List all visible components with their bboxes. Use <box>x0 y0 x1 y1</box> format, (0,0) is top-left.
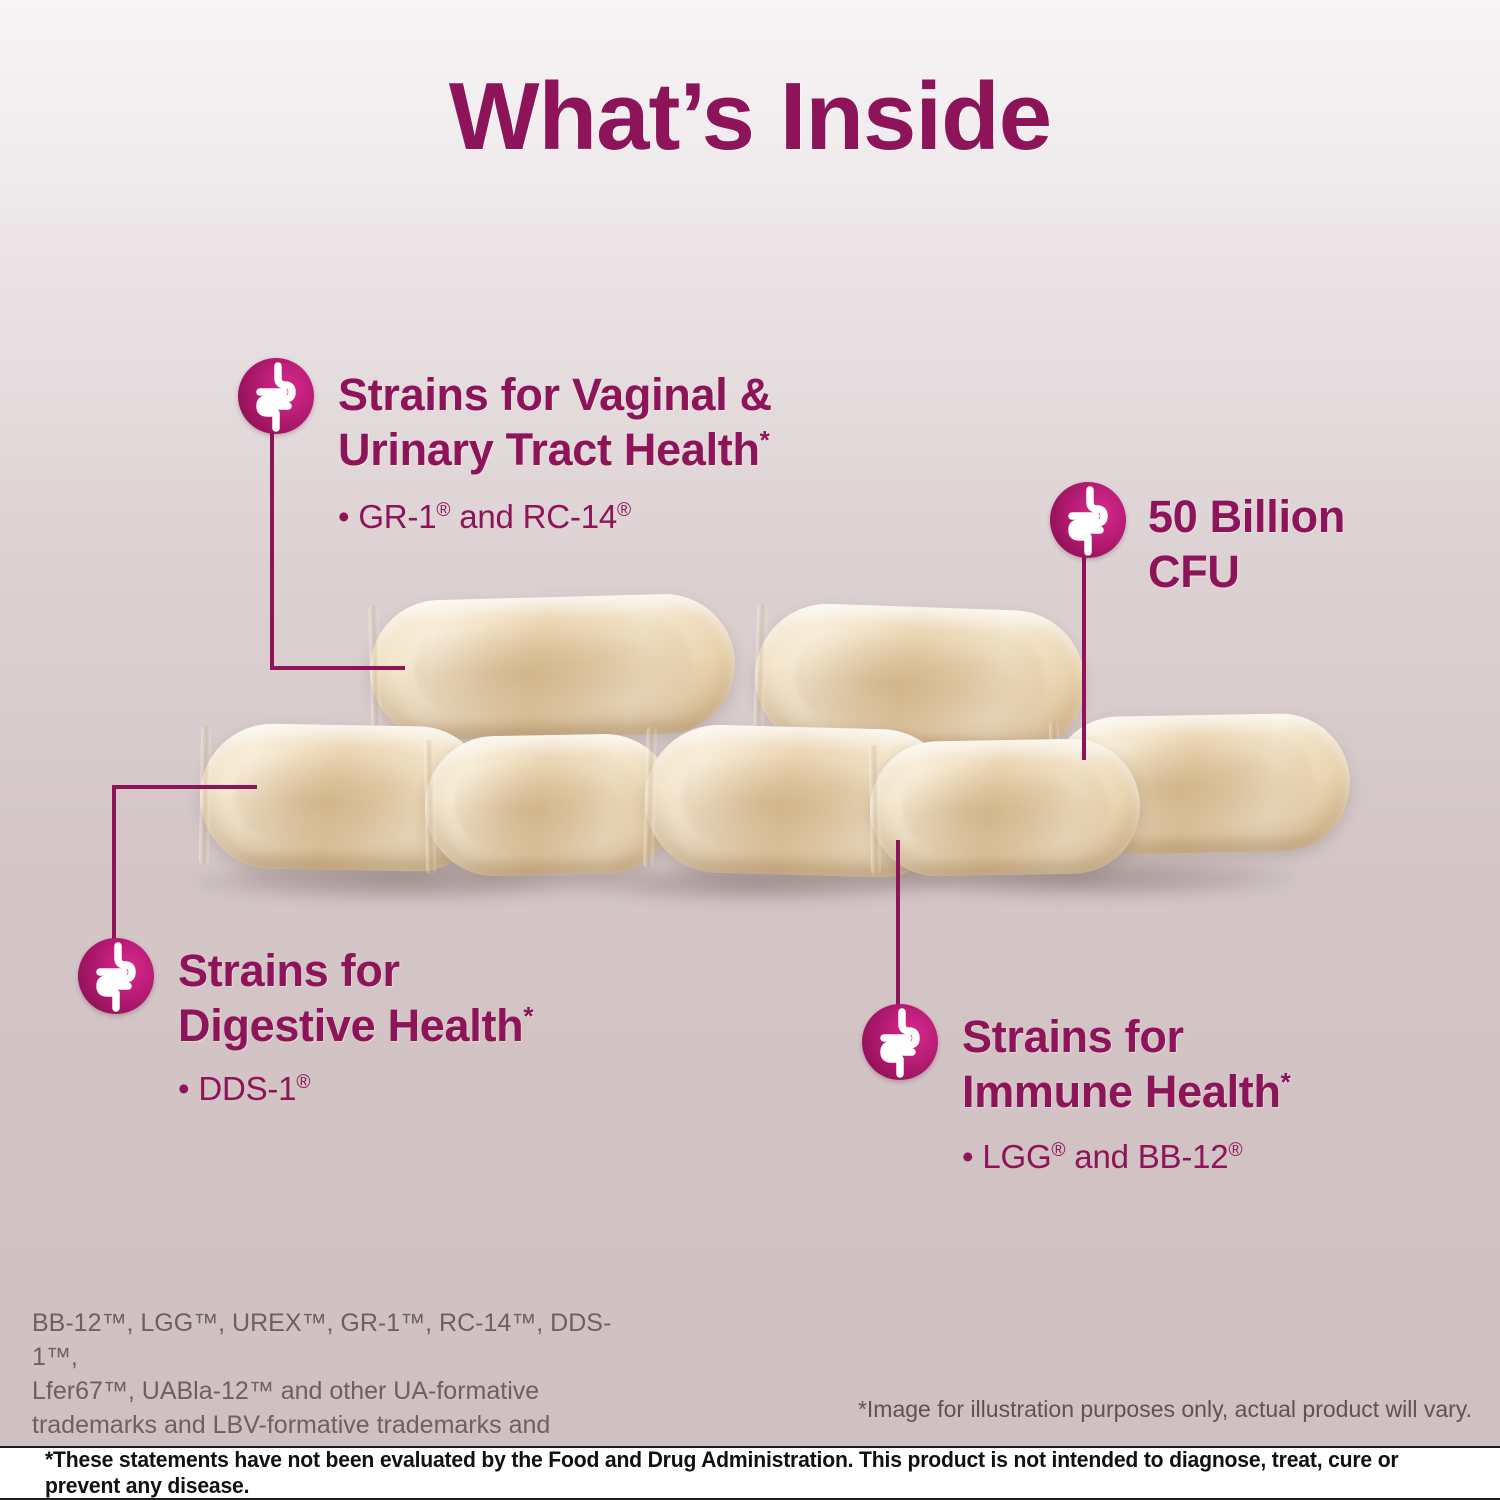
capsule <box>869 738 1141 878</box>
callout-title-vaginal-urinary: Strains for Vaginal &Urinary Tract Healt… <box>338 368 958 478</box>
fda-disclaimer-text: *These statements have not been evaluate… <box>45 1447 1455 1499</box>
leader-line-digestive <box>112 785 116 960</box>
gut-icon <box>78 938 154 1014</box>
leader-line-immune <box>896 840 900 1020</box>
illustration-disclaimer: *Image for illustration purposes only, a… <box>858 1396 1472 1423</box>
whats-inside-infographic: What’s Inside <box>0 0 1500 1500</box>
capsule <box>424 733 676 877</box>
leader-line-vaginal-urinary <box>270 425 274 670</box>
callout-title-cfu: 50 BillionCFU <box>1148 490 1488 600</box>
leader-line-vaginal-urinary-arm <box>270 666 405 670</box>
callout-title-immune: Strains forImmune Health* <box>962 1010 1482 1120</box>
page-title: What’s Inside <box>0 62 1500 172</box>
gut-icon <box>862 1004 938 1080</box>
leader-line-digestive-arm <box>112 785 257 789</box>
leader-line-cfu <box>1082 545 1086 760</box>
fda-disclaimer-bar: *These statements have not been evaluate… <box>0 1446 1500 1500</box>
callout-bullet-digestive: • DDS-1® <box>178 1068 738 1109</box>
callout-bullet-vaginal-urinary: • GR-1® and RC-14® <box>338 496 958 537</box>
callout-title-digestive: Strains forDigestive Health* <box>178 944 738 1054</box>
capsule-pile-image <box>170 575 1330 905</box>
callout-bullet-immune: • LGG® and BB-12® <box>962 1136 1482 1177</box>
gut-icon <box>238 358 314 434</box>
gut-icon <box>1050 482 1126 558</box>
capsule <box>368 592 737 742</box>
